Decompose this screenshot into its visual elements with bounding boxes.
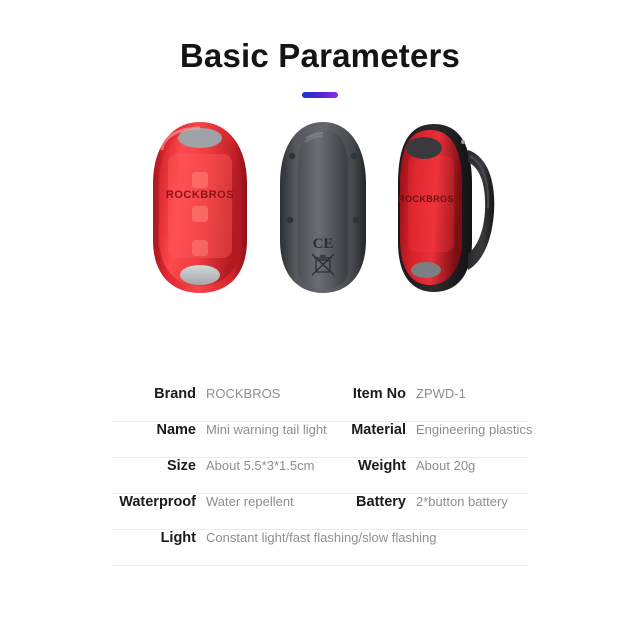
spec-cell: Material Engineering plastics (328, 422, 532, 457)
ce-mark-icon: CE (313, 236, 334, 252)
page-header: Basic Parameters (0, 0, 640, 98)
spec-label: Light (112, 530, 196, 546)
page-title: Basic Parameters (0, 36, 640, 76)
spec-value: Mini warning tail light (206, 422, 327, 437)
tail-light-front-svg: ROCKBROS (148, 120, 252, 295)
spec-cell: Waterproof Water repellent (112, 494, 328, 529)
spec-label: Item No (328, 386, 406, 402)
spec-table: Brand ROCKBROS Item No ZPWD-1 Name Mini … (112, 386, 528, 566)
spec-value: 2*button battery (416, 494, 508, 509)
product-image-front-view: ROCKBROS (148, 120, 252, 295)
spec-cell: Name Mini warning tail light (112, 422, 328, 457)
table-row: Size About 5.5*3*1.5cm Weight About 20g (112, 458, 528, 494)
spec-value: ROCKBROS (206, 386, 280, 401)
table-row: Name Mini warning tail light Material En… (112, 422, 528, 458)
spec-value: Constant light/fast flashing/slow flashi… (206, 530, 437, 545)
spec-label: Material (328, 422, 406, 438)
spec-label: Name (112, 422, 196, 438)
spec-cell: Item No ZPWD-1 (328, 386, 528, 421)
product-gallery: ROCKBROS (0, 120, 640, 335)
tail-light-angled-svg: ROCKBROS (390, 120, 502, 295)
table-row: Waterproof Water repellent Battery 2*but… (112, 494, 528, 530)
spec-cell: Size About 5.5*3*1.5cm (112, 458, 328, 493)
spec-label: Waterproof (112, 494, 196, 510)
spec-label: Weight (328, 458, 406, 474)
spec-value: Water repellent (206, 494, 294, 509)
table-row: Brand ROCKBROS Item No ZPWD-1 (112, 386, 528, 422)
spec-label: Brand (112, 386, 196, 402)
spec-cell: Light Constant light/fast flashing/slow … (112, 530, 528, 565)
spec-value: About 20g (416, 458, 475, 473)
spec-value: Engineering plastics (416, 422, 532, 437)
svg-text:CE: CE (313, 236, 334, 252)
product-brand-text: ROCKBROS (398, 194, 454, 204)
product-image-back-view: CE (275, 120, 371, 295)
tail-light-back-svg: CE (275, 120, 371, 295)
spec-cell: Brand ROCKBROS (112, 386, 328, 421)
spec-label: Size (112, 458, 196, 474)
table-row: Light Constant light/fast flashing/slow … (112, 530, 528, 566)
spec-value: ZPWD-1 (416, 386, 466, 401)
product-brand-text: ROCKBROS (166, 189, 234, 201)
product-image-angled-view: ROCKBROS (390, 120, 502, 295)
spec-cell: Weight About 20g (328, 458, 528, 493)
spec-value: About 5.5*3*1.5cm (206, 458, 314, 473)
title-accent-bar (302, 92, 338, 98)
spec-label: Battery (328, 494, 406, 510)
spec-cell: Battery 2*button battery (328, 494, 528, 529)
